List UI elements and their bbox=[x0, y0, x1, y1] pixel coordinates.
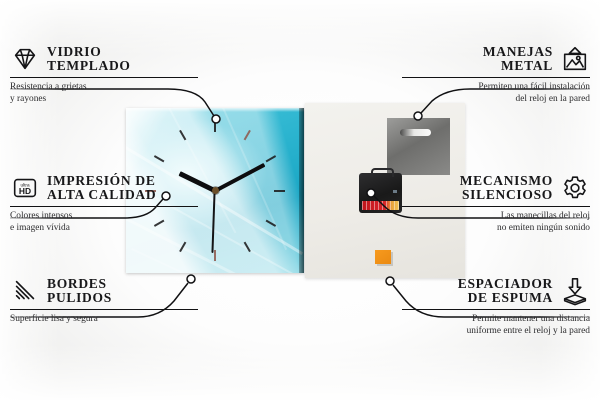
clock-center-cap bbox=[212, 187, 219, 194]
feature-header: MANEJAS METAL bbox=[402, 44, 590, 74]
feature-title: ESPACIADOR DE ESPUMA bbox=[458, 277, 553, 306]
svg-text:HD: HD bbox=[19, 186, 31, 196]
battery-stripes bbox=[362, 201, 399, 210]
feature-title: IMPRESIÓN DE ALTA CALIDAD bbox=[47, 174, 156, 203]
feature-header: MECANISMO SILENCIOSO bbox=[402, 173, 590, 203]
feature-description: Permite mantener una distancia uniforme … bbox=[402, 314, 590, 337]
feature-title: BORDES PULIDOS bbox=[47, 277, 112, 306]
clock-second-hand bbox=[212, 190, 216, 252]
feature-header: ultra HD IMPRESIÓN DE ALTA CALIDAD bbox=[10, 173, 198, 203]
diamond-icon bbox=[10, 44, 40, 74]
feature-title: MANEJAS METAL bbox=[483, 45, 553, 74]
arrow-onto-foam-icon bbox=[560, 276, 590, 306]
feature-description: Superficie lisa y segura bbox=[10, 314, 198, 326]
feature-divider bbox=[10, 309, 198, 310]
feature-bordes-pulidos: BORDES PULIDOS Superficie lisa y segura bbox=[10, 276, 198, 326]
metal-hanger-plate bbox=[387, 118, 450, 175]
feature-divider bbox=[10, 77, 198, 78]
feature-title: VIDRIO TEMPLADO bbox=[47, 45, 131, 74]
hanger-slot bbox=[400, 129, 431, 136]
feature-description: Colores intensos e imagen vívida bbox=[10, 211, 198, 234]
feature-vidrio-templado: VIDRIO TEMPLADO Resistencia a grietas y … bbox=[10, 44, 198, 105]
picture-frame-hanger-icon bbox=[560, 44, 590, 74]
clock-minute-hand bbox=[214, 162, 265, 192]
feature-header: VIDRIO TEMPLADO bbox=[10, 44, 198, 74]
mechanism-hook bbox=[371, 168, 394, 177]
mechanism-label bbox=[393, 190, 397, 193]
feature-description: Resistencia a grietas y rayones bbox=[10, 82, 198, 105]
feature-espaciador-espuma: ESPACIADOR DE ESPUMA Permite mantener un… bbox=[402, 276, 590, 337]
infographic-canvas: VIDRIO TEMPLADO Resistencia a grietas y … bbox=[0, 0, 600, 400]
feature-header: BORDES PULIDOS bbox=[10, 276, 198, 306]
ultra-hd-icon: ultra HD bbox=[10, 173, 40, 203]
feature-description: Permiten una fácil instalación del reloj… bbox=[402, 82, 590, 105]
feature-manejas-metal: MANEJAS METAL Permiten una fácil instala… bbox=[402, 44, 590, 105]
feature-divider bbox=[10, 206, 198, 207]
feature-impresion-alta-calidad: ultra HD IMPRESIÓN DE ALTA CALIDAD Color… bbox=[10, 173, 198, 234]
feature-divider bbox=[402, 206, 590, 207]
feature-description: Las manecillas del reloj no emiten ningú… bbox=[402, 211, 590, 234]
feature-title: MECANISMO SILENCIOSO bbox=[460, 174, 553, 203]
polished-edge-icon bbox=[10, 276, 40, 306]
feature-divider bbox=[402, 77, 590, 78]
battery bbox=[362, 201, 399, 210]
feature-header: ESPACIADOR DE ESPUMA bbox=[402, 276, 590, 306]
feature-divider bbox=[402, 309, 590, 310]
feature-mecanismo-silencioso: MECANISMO SILENCIOSO Las manecillas del … bbox=[402, 173, 590, 234]
connector-dot-espaciador bbox=[386, 277, 394, 285]
quartz-mechanism bbox=[359, 173, 402, 213]
gear-icon bbox=[560, 173, 590, 203]
foam-spacer bbox=[375, 250, 391, 264]
